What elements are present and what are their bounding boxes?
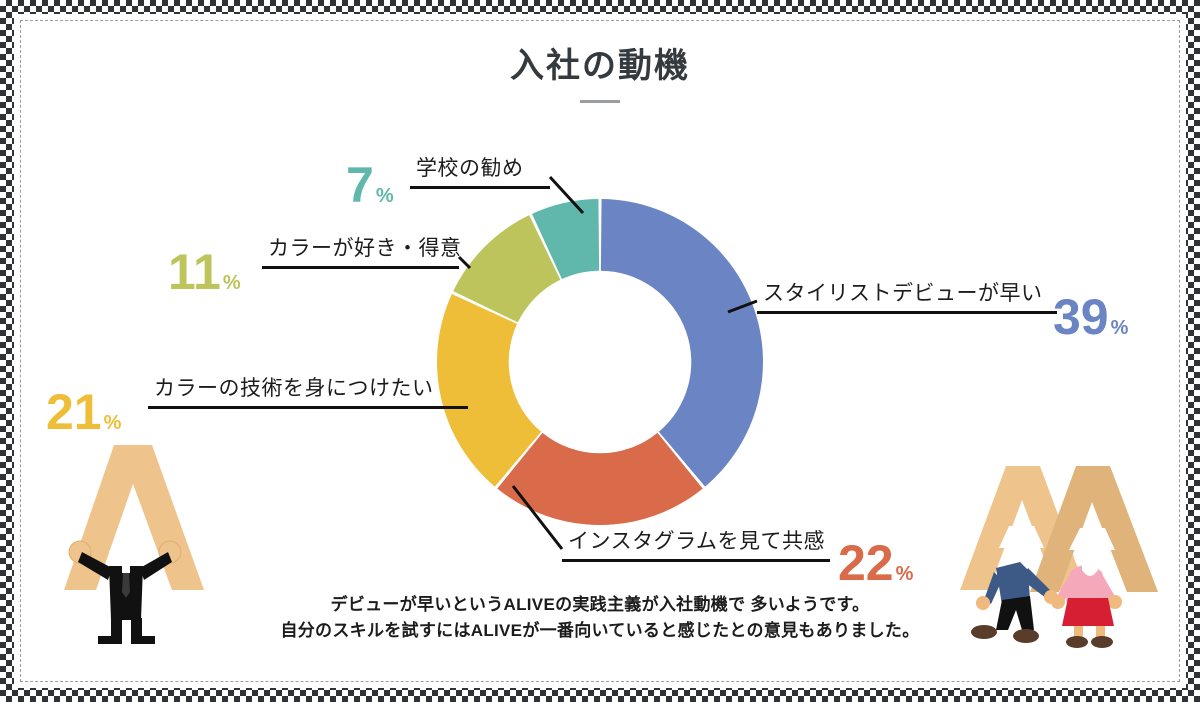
donut-chart-svg <box>437 199 763 525</box>
poster-canvas: 入社の動機 学校の勧め 7% カラーが好き・得意 11% カラーの技術を身につけ… <box>0 0 1200 702</box>
callout-color-like-rule <box>262 266 459 269</box>
callout-stylist-rule <box>757 311 1057 314</box>
callout-insta-label: インスタグラムを見て共感 <box>568 525 830 555</box>
callout-insta: インスタグラムを見て共感 <box>562 525 830 562</box>
callout-color-like-sign: % <box>223 272 241 294</box>
callout-insta-value: 22 <box>838 535 894 591</box>
callout-school: 学校の勧め <box>410 152 550 189</box>
woman-skirt <box>1062 598 1114 626</box>
man-shoe-front <box>1013 629 1039 643</box>
callout-stylist: スタイリストデビューが早い <box>757 277 1057 314</box>
woman-hand-left <box>1051 595 1065 609</box>
donut-slice-group <box>437 199 763 525</box>
callout-stylist-label: スタイリストデビューが早い <box>763 277 1057 307</box>
man-shoe-back <box>971 625 997 639</box>
mascot-couple-letters-aa-icon <box>958 440 1173 655</box>
callout-color-like-percent: 11% <box>168 247 241 297</box>
letter-a-counter-left <box>109 532 157 552</box>
callout-insta-rule <box>562 559 830 562</box>
callout-color-skill-rule <box>148 406 468 409</box>
callout-insta-percent: 22% <box>838 538 913 588</box>
mascot-shirt-collar <box>122 566 130 573</box>
callout-school-value: 7 <box>346 157 374 213</box>
mascot-leg-right <box>131 618 155 644</box>
man-hand-back <box>976 596 990 610</box>
callout-color-like-value: 11 <box>168 244 221 300</box>
callout-school-rule <box>410 186 550 189</box>
page-title: 入社の動機 <box>0 38 1200 87</box>
callout-color-skill: カラーの技術を身につけたい <box>148 372 468 409</box>
callout-stylist-sign: % <box>1111 317 1129 339</box>
callout-school-label: 学校の勧め <box>416 152 550 182</box>
mascot-leg-left <box>98 618 122 644</box>
donut-chart <box>437 199 763 525</box>
callout-stylist-percent: 39% <box>1053 292 1128 342</box>
mascot-businessman-letter-a-icon <box>52 440 232 655</box>
woman-hand-right <box>1108 595 1122 609</box>
callout-school-sign: % <box>376 185 394 207</box>
callout-color-skill-sign: % <box>104 412 122 434</box>
callout-color-skill-label: カラーの技術を身につけたい <box>154 372 468 402</box>
callout-color-skill-percent: 21% <box>46 387 121 437</box>
callout-color-like: カラーが好き・得意 <box>262 232 462 269</box>
woman-shoe-right <box>1091 636 1113 648</box>
title-underline-rule <box>580 100 620 103</box>
callout-color-skill-value: 21 <box>46 384 102 440</box>
donut-slice <box>601 199 763 487</box>
callout-stylist-value: 39 <box>1053 289 1109 345</box>
callout-school-percent: 7% <box>346 160 394 210</box>
woman-shoe-left <box>1066 636 1088 648</box>
callout-color-like-label: カラーが好き・得意 <box>268 232 462 262</box>
callout-insta-sign: % <box>896 563 914 585</box>
